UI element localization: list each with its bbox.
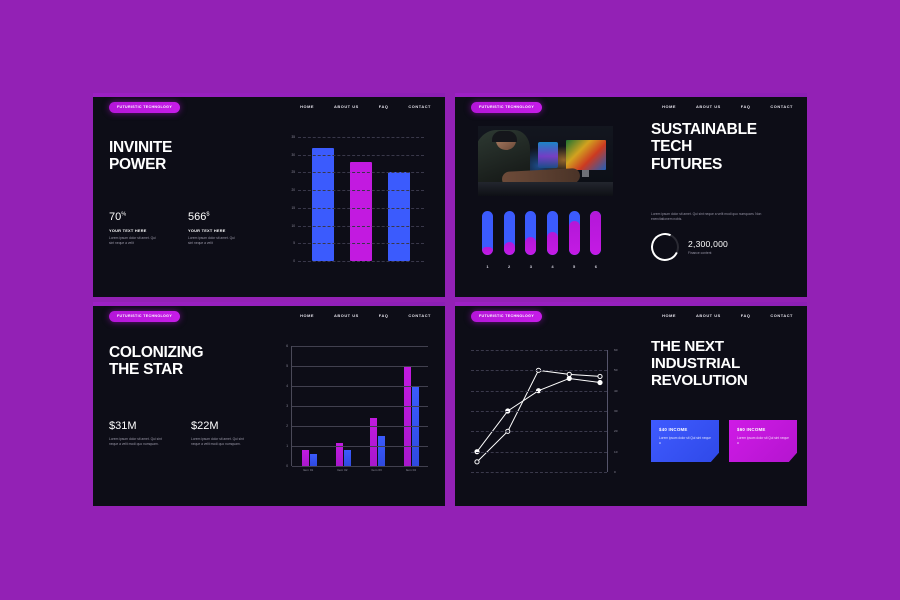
chart4-gridline [471, 370, 607, 371]
chart2-x-label: 5 [569, 264, 580, 269]
chart1-gridline [298, 155, 424, 156]
slide2-title-line1: SUSTAINABLE [651, 121, 801, 138]
chart4-gridline [471, 411, 607, 412]
chart1-gridline [298, 243, 424, 244]
stat-unit: % [121, 211, 126, 217]
chart2-x-label: 6 [590, 264, 601, 269]
stat-block: $22M Lorem ipsum dolor sit amet. Qui sin… [191, 420, 246, 447]
chart4-y-tick: 20 [614, 429, 617, 433]
chart1-gridline [298, 137, 424, 138]
slide3-stats: $31M Lorem ipsum dolor sit amet. Qui sin… [109, 420, 246, 447]
chart3-gridline [292, 426, 428, 427]
chart4-gridline [471, 472, 607, 473]
chart2-pill-fill [569, 221, 580, 255]
chart4-data-point [475, 460, 479, 464]
brand-badge[interactable]: FUTURISTIC TECHNOLOGY [471, 102, 542, 113]
chart1-y-tick: 0 [293, 259, 295, 263]
slide2-pill-bar-chart: 123456 [478, 211, 608, 269]
slide3-title-line1: COLONIZING [109, 344, 203, 361]
stat-body: Lorem ipsum dolor sit amet. Qui sint neq… [109, 236, 161, 246]
nav-item-contact[interactable]: CONTACT [770, 313, 793, 318]
monitor-secondary [538, 142, 558, 168]
chart4-series-line [477, 370, 600, 462]
chart3-x-label: Item 02 [337, 468, 347, 472]
nav-menu[interactable]: HOME ABOUT US FAQ CONTACT [300, 104, 431, 109]
chart3-gridline [292, 346, 428, 347]
chart1-gridline [298, 190, 424, 191]
chart1-gridline [298, 172, 424, 173]
chart3-x-label: Item 01 [303, 468, 313, 472]
nav-item-faq[interactable]: FAQ [379, 313, 389, 318]
chart4-y-axis: 0102030405060 [610, 350, 626, 472]
chart3-bar [310, 454, 317, 466]
chart3-y-tick: 5 [286, 364, 288, 368]
stat-value: $31M [109, 420, 164, 432]
chart3-gridline [292, 466, 428, 467]
slide2-metric-text: 2,300,000 Finance content [688, 239, 728, 255]
chart3-gridline [292, 386, 428, 387]
income-card-heading: $40 INCOME [659, 427, 711, 432]
nav-item-about-us[interactable]: ABOUT US [696, 313, 721, 318]
slide-next-industrial-revolution[interactable]: FUTURISTIC TECHNOLOGY HOME ABOUT US FAQ … [455, 302, 807, 506]
chart4-y-tick: 30 [614, 409, 617, 413]
stat-body: Lorem ipsum dolor sit amet. Qui sint neq… [188, 236, 240, 246]
gamer-at-desk-photo [478, 126, 613, 196]
nav-item-home[interactable]: HOME [662, 104, 676, 109]
chart2-x-label: 1 [482, 264, 493, 269]
chart3-plot-area [291, 346, 428, 466]
stat-block: 566$ YOUR TEXT HERE Lorem ipsum dolor si… [188, 211, 240, 246]
chart2-pill-bar [590, 211, 601, 255]
chart1-y-tick: 25 [291, 170, 295, 174]
chart3-x-label: Item 03 [371, 468, 381, 472]
chart4-gridline [471, 391, 607, 392]
nav-item-home[interactable]: HOME [662, 313, 676, 318]
slide4-title-line2: INDUSTRIAL [651, 355, 803, 372]
chart2-pill-fill [590, 211, 601, 255]
stat-body: Lorem ipsum dolor sit amet. Qui sint neq… [109, 437, 164, 447]
chart4-y-tick: 0 [614, 470, 616, 474]
nav-item-about-us[interactable]: ABOUT US [334, 104, 359, 109]
chart2-pill-bar [525, 211, 536, 255]
stat-value: $22M [191, 420, 246, 432]
nav-item-home[interactable]: HOME [300, 104, 314, 109]
chart1-gridline [298, 261, 424, 262]
chart2-pill-fill [525, 237, 536, 255]
chart1-y-tick: 15 [291, 206, 295, 210]
nav-item-about-us[interactable]: ABOUT US [696, 104, 721, 109]
income-card-40[interactable]: $40 INCOME Lorem ipsum dolor sit Qui sin… [651, 420, 719, 462]
chart4-gridline [471, 452, 607, 453]
slide-header: FUTURISTIC TECHNOLOGY HOME ABOUT US FAQ … [93, 97, 445, 119]
chart3-bar [378, 436, 385, 466]
chart3-x-labels: Item 01Item 02Item 03Item 04 [291, 468, 428, 472]
chart3-y-tick: 2 [286, 424, 288, 428]
monitor-primary [566, 140, 606, 170]
chart4-y-tick: 50 [614, 368, 617, 372]
slide3-title-line2: THE STAR [109, 361, 203, 378]
chart1-y-tick: 5 [293, 241, 295, 245]
nav-item-contact[interactable]: CONTACT [770, 104, 793, 109]
slide4-title: THE NEXT INDUSTRIAL REVOLUTION [651, 338, 803, 389]
chart2-pill-bar [482, 211, 493, 255]
presentation-mockup-canvas: FUTURISTIC TECHNOLOGY HOME ABOUT US FAQ … [0, 0, 900, 600]
chart2-x-label: 4 [547, 264, 558, 269]
stat-block: 70% YOUR TEXT HERE Lorem ipsum dolor sit… [109, 211, 161, 246]
chart1-y-tick: 10 [291, 224, 295, 228]
stat-body: Lorem ipsum dolor sit amet. Qui sint neq… [191, 437, 246, 447]
slide1-title: INVINITE POWER [109, 139, 172, 174]
stat-label: YOUR TEXT HERE [188, 228, 240, 233]
nav-item-faq[interactable]: FAQ [379, 104, 389, 109]
brand-badge[interactable]: FUTURISTIC TECHNOLOGY [109, 102, 180, 113]
chart4-gridline [471, 350, 607, 351]
nav-item-about-us[interactable]: ABOUT US [334, 313, 359, 318]
chart3-y-tick: 4 [286, 384, 288, 388]
chart1-gridline [298, 226, 424, 227]
slide3-grouped-bar-chart: 0123456 Item 01Item 02Item 03Item 04 [278, 346, 430, 486]
nav-menu[interactable]: HOME ABOUT US FAQ CONTACT [300, 313, 431, 318]
chart1-plot-area [298, 137, 424, 261]
slide-colonizing-the-star[interactable]: FUTURISTIC TECHNOLOGY HOME ABOUT US FAQ … [93, 302, 445, 506]
chart1-bar [350, 162, 372, 261]
chart2-pill-fill [482, 247, 493, 255]
chart1-y-axis: 05101520253035 [283, 137, 297, 261]
chart2-pill-bar [547, 211, 558, 255]
slide1-bar-chart: 05101520253035 [283, 137, 428, 277]
nav-item-contact[interactable]: CONTACT [408, 313, 431, 318]
slide2-title: SUSTAINABLE TECH FUTURES [651, 121, 801, 173]
slide4-line-chart: 0102030405060 [471, 350, 626, 480]
chart3-y-tick: 0 [286, 464, 288, 468]
slide1-title-line1: INVINITE [109, 139, 172, 156]
chart3-gridline [292, 406, 428, 407]
chart3-y-tick: 6 [286, 344, 288, 348]
chart4-data-point [567, 372, 571, 376]
brand-badge[interactable]: FUTURISTIC TECHNOLOGY [109, 311, 180, 322]
slide-header: FUTURISTIC TECHNOLOGY HOME ABOUT US FAQ … [93, 306, 445, 328]
chart3-bar [344, 450, 351, 466]
slide2-title-line3: FUTURES [651, 156, 801, 173]
income-card-heading: $60 INCOME [737, 427, 789, 432]
nav-menu[interactable]: HOME ABOUT US FAQ CONTACT [662, 104, 793, 109]
chart4-data-point [598, 380, 602, 384]
headphones-icon [492, 131, 517, 142]
metric-value: 2,300,000 [688, 239, 728, 249]
stat-value: 70% [109, 211, 161, 223]
chart1-y-tick: 30 [291, 153, 295, 157]
slide-invinite-power[interactable]: FUTURISTIC TECHNOLOGY HOME ABOUT US FAQ … [93, 93, 445, 297]
chart2-x-label: 2 [504, 264, 515, 269]
chart2-pill-fill [504, 242, 515, 255]
chart4-y-tick: 40 [614, 389, 617, 393]
stat-unit: $ [206, 211, 209, 217]
slide1-stats: 70% YOUR TEXT HERE Lorem ipsum dolor sit… [109, 211, 240, 246]
chart4-data-point [598, 374, 602, 378]
chart1-gridline [298, 208, 424, 209]
chart4-gridline [471, 431, 607, 432]
chart3-x-label: Item 04 [406, 468, 416, 472]
nav-item-home[interactable]: HOME [300, 313, 314, 318]
slide2-paragraph: Lorem ipsum dolor sit amet. Qui sint neq… [651, 212, 779, 223]
metric-caption: Finance content [688, 251, 728, 255]
slide2-metric-row: 2,300,000 Finance content [651, 233, 728, 261]
slide-sustainable-tech-futures[interactable]: FUTURISTIC TECHNOLOGY HOME ABOUT US FAQ … [455, 93, 807, 297]
slide-header: FUTURISTIC TECHNOLOGY HOME ABOUT US FAQ … [455, 97, 807, 119]
slide4-income-cards: $40 INCOME Lorem ipsum dolor sit Qui sin… [651, 420, 797, 462]
chart2-pill-fill [547, 232, 558, 255]
chart1-y-tick: 20 [291, 188, 295, 192]
slide3-title: COLONIZING THE STAR [109, 344, 203, 379]
chart3-bar [302, 450, 309, 466]
nav-item-contact[interactable]: CONTACT [408, 104, 431, 109]
slide2-title-line2: TECH [651, 138, 801, 155]
chart3-gridline [292, 366, 428, 367]
brand-badge[interactable]: FUTURISTIC TECHNOLOGY [471, 311, 542, 322]
chart3-gridline [292, 446, 428, 447]
stat-value: 566$ [188, 211, 240, 223]
nav-item-faq[interactable]: FAQ [741, 104, 751, 109]
chart2-pill-bar [504, 211, 515, 255]
slide1-title-line2: POWER [109, 156, 172, 173]
chart1-y-tick: 35 [291, 135, 295, 139]
stat-label: YOUR TEXT HERE [109, 228, 161, 233]
donut-progress-icon [647, 229, 683, 265]
slide-header: FUTURISTIC TECHNOLOGY HOME ABOUT US FAQ … [455, 306, 807, 328]
chart4-y-tick: 10 [614, 450, 617, 454]
nav-menu[interactable]: HOME ABOUT US FAQ CONTACT [662, 313, 793, 318]
income-card-body: Lorem ipsum dolor sit Qui sint neque a [659, 436, 711, 446]
slide4-title-line1: THE NEXT [651, 338, 803, 355]
chart3-y-axis: 0123456 [278, 346, 290, 466]
chart4-y-tick: 60 [614, 348, 617, 352]
chart4-plot-area [471, 350, 608, 472]
chart2-x-label: 3 [525, 264, 536, 269]
chart3-y-tick: 3 [286, 404, 288, 408]
stat-block: $31M Lorem ipsum dolor sit amet. Qui sin… [109, 420, 164, 447]
chart2-pill-bar [569, 211, 580, 255]
chart3-y-tick: 1 [286, 444, 288, 448]
chart3-bar [404, 366, 411, 466]
nav-item-faq[interactable]: FAQ [741, 313, 751, 318]
slide4-title-line3: REVOLUTION [651, 372, 803, 389]
desk-surface [478, 182, 613, 196]
income-card-60[interactable]: $60 INCOME Lorem ipsum dolor sit Qui sin… [729, 420, 797, 462]
income-card-body: Lorem ipsum dolor sit Qui sint neque a [737, 436, 789, 446]
chart1-bar [388, 172, 410, 261]
